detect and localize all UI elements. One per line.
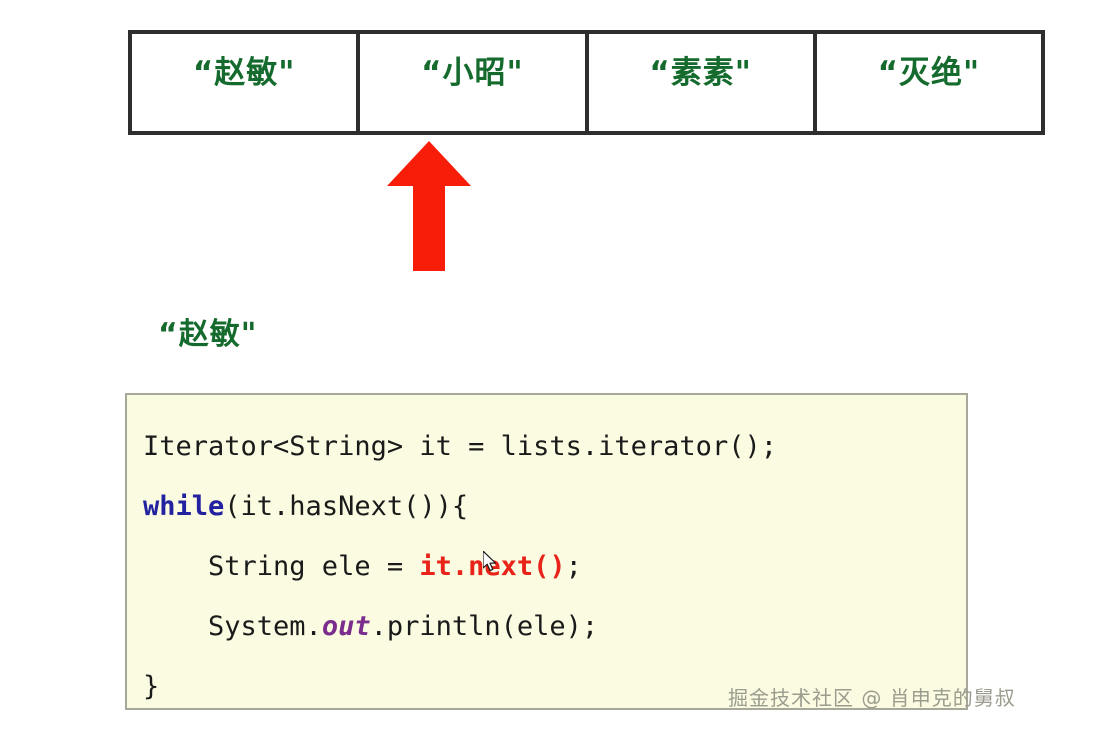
code-token: } (143, 671, 159, 702)
array-cell[interactable]: “素素" (589, 34, 817, 131)
code-token: .println(ele); (371, 611, 599, 642)
watermark-text: 掘金技术社区 @ 肖申克的舅叔 (728, 688, 1016, 708)
array-table: “赵敏" “小昭" “素素" “灭绝" (128, 30, 1045, 135)
code-token: Iterator<String> it = lists.iterator(); (143, 431, 777, 462)
array-cell-label: “灭绝" (878, 58, 981, 89)
code-token: System. (143, 611, 322, 642)
up-arrow-icon (387, 141, 471, 271)
array-cell[interactable]: “赵敏" (132, 34, 360, 131)
array-cell-label: “赵敏" (193, 58, 296, 89)
current-element-label: “赵敏" (158, 320, 257, 350)
array-cell-label: “小昭" (421, 58, 524, 89)
code-token: (it.hasNext()){ (224, 491, 468, 522)
code-token-call: it.next() (419, 551, 565, 582)
code-line: String ele = it.next(); (143, 537, 966, 597)
code-snippet-panel: Iterator<String> it = lists.iterator(); … (125, 393, 968, 710)
code-line: System.out.println(ele); (143, 597, 966, 657)
array-cell[interactable]: “灭绝" (817, 34, 1041, 131)
array-cell-label: “素素" (649, 58, 752, 89)
code-line: while(it.hasNext()){ (143, 477, 966, 537)
code-token-field: out (322, 611, 371, 642)
code-token: ; (566, 551, 582, 582)
code-line: Iterator<String> it = lists.iterator(); (143, 417, 966, 477)
array-cell[interactable]: “小昭" (360, 34, 588, 131)
code-token-keyword: while (143, 491, 224, 522)
code-token: String ele = (143, 551, 419, 582)
